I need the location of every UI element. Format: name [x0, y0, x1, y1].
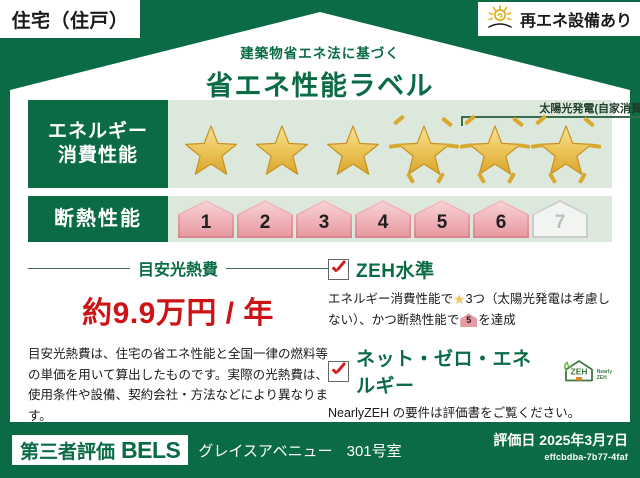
- zeh-desc-star-count: 3つ（太陽光発電: [466, 292, 560, 306]
- energy-label-line2: 消費性能: [58, 144, 138, 168]
- evaluation-id: effcbdba-7b77-4faf: [493, 452, 628, 462]
- insulation-badge-filled: 5: [414, 200, 470, 238]
- zeh-logo-subtext: Nearly ZEH: [597, 370, 612, 384]
- insulation-badges: 1234567: [178, 200, 588, 238]
- star-icon: [247, 114, 317, 188]
- zeh-standard-head: ZEH水準: [328, 256, 612, 283]
- energy-cost-value: 約9.9万円 / 年: [28, 288, 328, 332]
- zeh-logo-sub2: ZEH: [597, 375, 607, 381]
- page-title: 省エネ性能ラベル: [0, 64, 640, 103]
- lower-section: 目安光熱費 約9.9万円 / 年 目安光熱費は、住宅の省エネ性能と全国一律の燃料…: [28, 256, 612, 437]
- zeh-standard-block: ZEH水準 エネルギー消費性能で★3つ（太陽光発電は考慮しない）、かつ断熱性能で…: [328, 256, 612, 330]
- energy-cost-heading: 目安光熱費: [28, 256, 328, 280]
- label-footer: 第三者評価 BELS グレイスアベニュー301号室 評価日 2025年3月7日 …: [0, 422, 640, 478]
- label-title-block: 建築物省エネ法に基づく 省エネ性能ラベル: [0, 42, 640, 103]
- insulation-badge-filled: 1: [178, 200, 234, 238]
- inline-insulation-badge: 5: [460, 313, 477, 327]
- property-info: グレイスアベニュー301号室: [198, 440, 401, 461]
- zeh-netzero-description: NearlyZEH の要件は評価書をご覧ください。: [328, 403, 612, 423]
- energy-performance-label-key: エネルギー 消費性能: [28, 100, 168, 188]
- energy-cost-heading-text: 目安光熱費: [138, 256, 218, 280]
- star-icon: [318, 114, 388, 188]
- star-icon-solar: [531, 114, 601, 188]
- svg-text:ZEH: ZEH: [570, 367, 587, 377]
- renewable-energy-label: 再エネ設備あり: [520, 7, 632, 31]
- insulation-label: 断熱性能: [54, 207, 142, 232]
- zeh-netzero-checkbox-checked-icon: [328, 361, 349, 382]
- sun-icon: [486, 4, 514, 35]
- inline-star-icon: ★: [453, 291, 466, 307]
- zeh-logo: ZEH Nearly ZEH: [562, 359, 612, 383]
- insulation-performance-row: 断熱性能 1234567: [28, 196, 612, 242]
- star-icon-solar: [460, 114, 530, 188]
- bels-en-label: BELS: [121, 437, 180, 464]
- insulation-badge-filled: 4: [355, 200, 411, 238]
- star-rating: [176, 114, 601, 188]
- evaluation-date: 評価日 2025年3月7日: [493, 430, 628, 450]
- inline-badge-number: 5: [460, 313, 477, 327]
- insulation-badge-filled: 6: [473, 200, 529, 238]
- zeh-desc-part1: エネルギー消費性能で: [328, 292, 453, 306]
- bels-badge: 第三者評価 BELS: [12, 435, 188, 465]
- energy-cost-note: 目安光熱費は、住宅の省エネ性能と全国一律の燃料等の単価を用いて算出したものです。…: [28, 344, 328, 427]
- zeh-desc-part3: を達成: [478, 313, 516, 327]
- zeh-standard-checkbox-checked-icon: [328, 259, 349, 280]
- zeh-netzero-title: ネット・ゼロ・エネルギー: [356, 344, 551, 398]
- zeh-standard-title: ZEH水準: [356, 256, 435, 283]
- renewable-energy-chip: 再エネ設備あり: [478, 2, 640, 36]
- room-number: 301号室: [347, 443, 402, 460]
- zeh-netzero-head: ネット・ゼロ・エネルギー ZEH: [328, 344, 612, 398]
- bels-jp-label: 第三者評価: [20, 437, 115, 464]
- energy-cost-column: 目安光熱費 約9.9万円 / 年 目安光熱費は、住宅の省エネ性能と全国一律の燃料…: [28, 256, 328, 437]
- energy-performance-value: 太陽光発電(自家消費)分: [168, 100, 612, 188]
- insulation-badge-filled: 3: [296, 200, 352, 238]
- rule-left: [28, 268, 130, 269]
- energy-label-line1: エネルギー: [48, 120, 148, 144]
- energy-performance-row: エネルギー 消費性能 太陽光発電(自家消費)分: [28, 100, 612, 188]
- energy-performance-label: 建築物省エネ法に基づく 省エネ性能ラベル 住宅（住戸）: [0, 0, 640, 478]
- property-name: グレイスアベニュー: [198, 443, 332, 460]
- zeh-column: ZEH水準 エネルギー消費性能で★3つ（太陽光発電は考慮しない）、かつ断熱性能で…: [328, 256, 612, 437]
- star-icon: [176, 114, 246, 188]
- zeh-house-icon: ZEH: [562, 359, 596, 383]
- insulation-performance-label-key: 断熱性能: [28, 196, 168, 242]
- insulation-performance-value: 1234567: [168, 196, 612, 242]
- zeh-standard-description: エネルギー消費性能で★3つ（太陽光発電は考慮しない）、かつ断熱性能で5を達成: [328, 288, 612, 330]
- label-content: エネルギー 消費性能 太陽光発電(自家消費)分 断熱性能 1234567: [28, 100, 612, 437]
- rule-right: [226, 268, 328, 269]
- insulation-badge-filled: 2: [237, 200, 293, 238]
- title-subtitle: 建築物省エネ法に基づく: [0, 42, 640, 62]
- star-icon-solar: [389, 114, 459, 188]
- building-type-label: 住宅（住戸）: [11, 6, 128, 33]
- insulation-badge-empty: 7: [532, 200, 588, 238]
- zeh-netzero-block: ネット・ゼロ・エネルギー ZEH: [328, 344, 612, 423]
- evaluation-info: 評価日 2025年3月7日 effcbdba-7b77-4faf: [493, 430, 628, 462]
- building-type-chip: 住宅（住戸）: [0, 0, 140, 38]
